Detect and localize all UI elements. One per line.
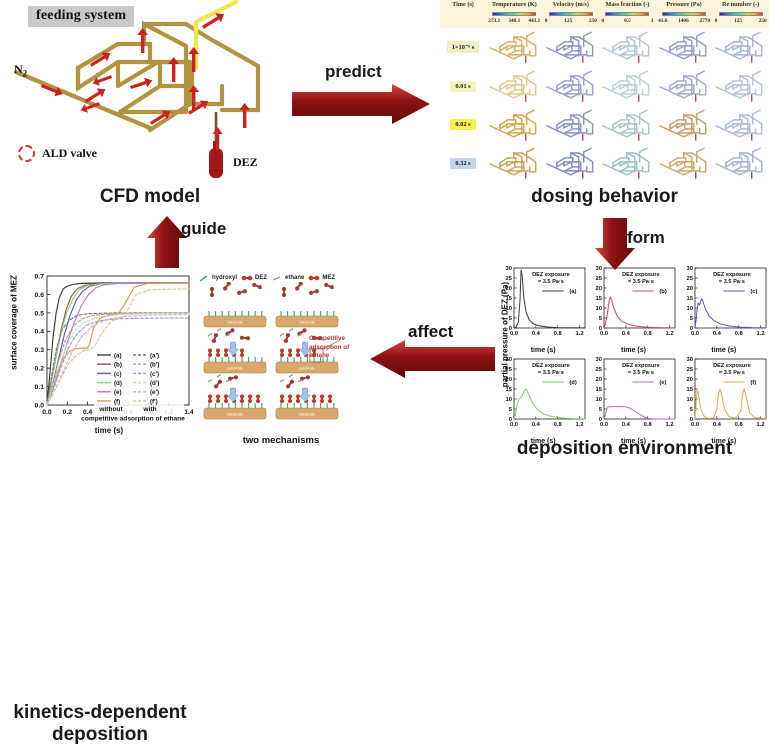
colorbar-tick: 2770: [699, 18, 710, 24]
mechanism-legend-item: MEZ: [308, 274, 335, 282]
dosing-time-cell: 0.02 s: [440, 119, 486, 130]
cfd-model-caption: CFD model: [0, 186, 300, 208]
dosing-column-title: Pressure (Pa): [666, 1, 701, 9]
svg-text:25: 25: [506, 367, 513, 373]
svg-text:(e'): (e'): [150, 389, 159, 396]
svg-text:20: 20: [506, 286, 512, 292]
dosing-behavior-panel: Time (s)Temperature (K)273.1348.1443.1Ve…: [440, 0, 769, 215]
dosing-contour-cell: [712, 28, 769, 67]
svg-text:5: 5: [689, 316, 693, 322]
svg-text:0.7: 0.7: [35, 273, 45, 280]
svg-text:= 3.5 Pa·s: = 3.5 Pa·s: [719, 279, 745, 285]
svg-text:20: 20: [686, 377, 692, 383]
colorbar-tick: 125: [734, 18, 742, 24]
svg-text:25: 25: [596, 367, 603, 373]
svg-text:substrate: substrate: [227, 320, 244, 325]
svg-text:substrate: substrate: [299, 366, 316, 371]
svg-text:(c): (c): [114, 371, 122, 378]
dumbbell-icon: [308, 274, 320, 282]
svg-text:(f): (f): [114, 398, 120, 405]
svg-text:0.3: 0.3: [35, 347, 45, 354]
colorbar-ticks: 41.614062770: [658, 18, 710, 24]
dosing-contour-cell: [712, 144, 769, 183]
svg-text:1.4: 1.4: [184, 409, 193, 416]
svg-text:(e): (e): [660, 380, 667, 386]
form-label: form: [627, 228, 665, 248]
dosing-column-title: Velocity (m/s): [553, 1, 589, 9]
colorbar: [492, 12, 536, 16]
dosing-column-3: Mass fraction (-)00.51: [599, 0, 656, 28]
svg-text:10: 10: [596, 397, 602, 403]
svg-text:0.8: 0.8: [644, 331, 653, 337]
svg-text:(a): (a): [569, 289, 576, 295]
dosing-column-2: Velocity (m/s)0125250: [543, 0, 600, 28]
svg-text:= 3.5 Pa·s: = 3.5 Pa·s: [628, 370, 654, 376]
svg-text:15: 15: [596, 387, 603, 393]
svg-text:25: 25: [686, 276, 693, 282]
colorbar-ticks: 00.51: [601, 18, 653, 24]
dosing-time-chip: 0.01 s: [450, 81, 475, 92]
cfd-pipe-network-diagram: [0, 0, 300, 200]
mechanism-legend-item: hydroxyl: [198, 274, 237, 282]
colorbar-tick: 348.1: [508, 18, 520, 24]
svg-text:10: 10: [596, 306, 602, 312]
deposition-subplot: 0.00.40.81.2051015202530DEZ exposure= 3.…: [679, 264, 769, 355]
svg-text:0.2: 0.2: [63, 409, 73, 416]
colorbar-ticks: 0125250: [715, 18, 767, 24]
dosing-contour-cell: [599, 67, 656, 106]
colorbar-tick: 250: [759, 18, 767, 24]
dosing-column-title: Temperature (K): [492, 1, 537, 9]
colorbar-tick: 41.6: [658, 18, 667, 24]
svg-text:20: 20: [686, 286, 692, 292]
svg-text:(b): (b): [660, 289, 667, 295]
deposition-x-axis-label: time (s): [498, 347, 588, 354]
svg-text:30: 30: [596, 357, 602, 363]
svg-text:substrate: substrate: [227, 366, 244, 371]
feeding-system-label: feeding system: [28, 6, 134, 27]
ald-valve-label: ALD valve: [42, 146, 97, 161]
svg-text:(f): (f): [750, 380, 756, 386]
mechanism-legend-label: DEZ: [255, 275, 267, 281]
dosing-time-chip: 1×10⁻⁶ s: [447, 41, 480, 53]
svg-text:30: 30: [686, 357, 692, 363]
svg-text:(b): (b): [114, 362, 122, 369]
dosing-contour-cell: [543, 28, 600, 67]
dosing-contour-cell: [599, 28, 656, 67]
svg-text:substrate: substrate: [299, 412, 316, 417]
dosing-time-chip: 0.02 s: [450, 119, 475, 130]
svg-text:0: 0: [509, 326, 512, 332]
dosing-contour-cell: [599, 144, 656, 183]
deposition-environment-panel: partial pressure of DEZ (Pa) 0.00.40.81.…: [480, 262, 769, 467]
deposition-subplot-grid: 0.00.40.81.2051015202530DEZ exposure= 3.…: [498, 264, 769, 436]
svg-text:15: 15: [686, 387, 693, 393]
dosing-contour-cell: [712, 106, 769, 145]
svg-text:(d): (d): [569, 380, 576, 386]
kinetics-chart: 0.00.20.40.60.81.01.21.40.00.10.20.30.40…: [25, 271, 193, 423]
dosing-contour-cell: [486, 144, 543, 183]
dosing-contour-cell: [543, 67, 600, 106]
dosing-column-title: Time (s): [452, 1, 474, 9]
svg-text:(e): (e): [114, 389, 122, 396]
svg-text:DEZ exposure: DEZ exposure: [713, 272, 751, 278]
svg-text:15: 15: [686, 296, 693, 302]
svg-text:= 3.5 Pa·s: = 3.5 Pa·s: [719, 370, 745, 376]
colorbar-tick: 0: [601, 18, 604, 24]
colorbar-tick: 0.5: [624, 18, 631, 24]
svg-text:DEZ exposure: DEZ exposure: [622, 272, 660, 278]
dosing-contour-cell: [656, 28, 713, 67]
svg-text:0.0: 0.0: [35, 402, 45, 409]
svg-text:0: 0: [599, 417, 602, 423]
svg-text:(a): (a): [114, 352, 122, 359]
dosing-contour-cell: [486, 67, 543, 106]
svg-text:0.4: 0.4: [622, 331, 631, 337]
dosing-contour-grid: 1×10⁻⁶ s0.01 s0.02 s0.32 s: [440, 28, 769, 183]
svg-text:0.6: 0.6: [35, 292, 45, 299]
svg-text:15: 15: [596, 296, 603, 302]
svg-text:(c'): (c'): [150, 371, 159, 378]
svg-text:1.2: 1.2: [756, 422, 764, 428]
deposition-x-axis-label: time (s): [679, 347, 769, 354]
kinetics-caption: kinetics-dependent deposition: [0, 702, 200, 746]
svg-text:25: 25: [596, 276, 603, 282]
svg-text:25: 25: [506, 276, 513, 282]
svg-text:5: 5: [599, 316, 603, 322]
svg-text:20: 20: [596, 377, 602, 383]
svg-text:competitive adsorption of etha: competitive adsorption of ethane: [81, 415, 185, 422]
dosing-contour-cell: [543, 106, 600, 145]
svg-text:0.4: 0.4: [35, 329, 45, 336]
svg-text:10: 10: [506, 306, 512, 312]
kinetics-plot-panel: surface coverage of MEZ 0.00.20.40.60.81…: [0, 262, 200, 467]
svg-text:(a'): (a'): [150, 352, 159, 359]
dosing-contour-cell: [599, 106, 656, 145]
svg-text:0: 0: [689, 326, 692, 332]
deposition-caption: deposition environment: [480, 438, 769, 460]
colorbar: [549, 12, 593, 16]
svg-text:0: 0: [599, 326, 602, 332]
dosing-contour-cell: [712, 67, 769, 106]
colorbar-tick: 1406: [678, 18, 689, 24]
colorbar: [662, 12, 706, 16]
svg-text:0.8: 0.8: [554, 331, 563, 337]
dosing-contour-cell: [656, 144, 713, 183]
dez-label: DEZ: [233, 155, 258, 170]
dosing-row: 0.32 s: [440, 144, 769, 183]
deposition-x-axis-label: time (s): [588, 347, 678, 354]
svg-text:0.8: 0.8: [554, 422, 563, 428]
dosing-time-cell: 0.32 s: [440, 158, 486, 169]
dosing-contour-cell: [656, 67, 713, 106]
svg-text:without: without: [98, 406, 123, 413]
svg-text:1.2: 1.2: [666, 422, 674, 428]
mechanism-legend-item: DEZ: [241, 274, 267, 282]
dosing-column-title: Re number (-): [722, 1, 759, 9]
svg-text:1.2: 1.2: [576, 331, 584, 337]
svg-text:DEZ exposure: DEZ exposure: [532, 272, 570, 278]
deposition-subplot: 0.00.40.81.2051015202530DEZ exposure= 3.…: [679, 355, 769, 446]
colorbar-tick: 273.1: [488, 18, 500, 24]
svg-text:20: 20: [506, 377, 512, 383]
dosing-column-title: Mass fraction (-): [605, 1, 649, 9]
dosing-contour-cell: [656, 106, 713, 145]
svg-text:0.4: 0.4: [532, 422, 541, 428]
dosing-contour-cell: [486, 28, 543, 67]
mechanism-legend-label: MEZ: [322, 275, 335, 281]
svg-text:0.5: 0.5: [35, 310, 45, 317]
dosing-contour-cell: [543, 144, 600, 183]
svg-text:(d): (d): [114, 380, 122, 387]
svg-text:= 3.5 Pa·s: = 3.5 Pa·s: [628, 279, 654, 285]
svg-text:30: 30: [506, 357, 512, 363]
colorbar: [605, 12, 649, 16]
colorbar: [719, 12, 763, 16]
svg-text:0: 0: [509, 417, 512, 423]
colorbar-ticks: 273.1348.1443.1: [488, 18, 540, 24]
dosing-column-0: Time (s): [440, 0, 486, 28]
dosing-column-5: Re number (-)0125250: [712, 0, 769, 28]
affect-label: affect: [408, 322, 453, 342]
predict-label: predict: [325, 62, 382, 82]
affect-arrow: [370, 340, 495, 378]
dosing-row: 0.01 s: [440, 67, 769, 106]
svg-text:= 3.5 Pa·s: = 3.5 Pa·s: [538, 370, 564, 376]
svg-text:(b'): (b'): [150, 362, 159, 369]
svg-text:0.4: 0.4: [712, 422, 721, 428]
dosing-row: 0.02 s: [440, 106, 769, 145]
mechanism-legend-label: ethane: [285, 275, 304, 281]
svg-text:(d'): (d'): [150, 380, 159, 387]
dosing-contour-cell: [486, 106, 543, 145]
svg-text:0.8: 0.8: [644, 422, 653, 428]
svg-text:30: 30: [686, 266, 692, 272]
dosing-behavior-caption: dosing behavior: [440, 186, 769, 208]
svg-text:0.2: 0.2: [35, 366, 45, 373]
colorbar-ticks: 0125250: [545, 18, 597, 24]
svg-text:DEZ exposure: DEZ exposure: [713, 363, 751, 369]
kinetics-y-axis-label: surface coverage of MEZ: [10, 253, 19, 393]
colorbar-tick: 0: [715, 18, 718, 24]
tick-icon: [271, 274, 283, 282]
mechanism-schematic-panel: hydroxylDEZethaneMEZ substratesubstrates…: [196, 272, 366, 457]
svg-text:0.8: 0.8: [734, 331, 743, 337]
colorbar-tick: 125: [564, 18, 572, 24]
deposition-subplot: 0.00.40.81.2051015202530DEZ exposure= 3.…: [498, 264, 588, 355]
svg-text:30: 30: [506, 266, 512, 272]
svg-text:with: with: [142, 406, 156, 413]
svg-text:0.4: 0.4: [532, 331, 541, 337]
svg-text:20: 20: [596, 286, 602, 292]
stem-icon: [198, 274, 210, 282]
svg-text:15: 15: [506, 387, 513, 393]
svg-text:1.2: 1.2: [756, 331, 764, 337]
dosing-time-cell: 0.01 s: [440, 81, 486, 92]
cfd-model-panel: feeding system N2 DEZ ALD valve CFD mode…: [0, 0, 300, 215]
deposition-subplot: 0.00.40.81.2051015202530DEZ exposure= 3.…: [588, 264, 678, 355]
svg-text:0.4: 0.4: [622, 422, 631, 428]
colorbar-tick: 0: [545, 18, 548, 24]
mechanism-legend-label: hydroxyl: [212, 275, 237, 281]
svg-text:= 3.5 Pa·s: = 3.5 Pa·s: [538, 279, 564, 285]
dosing-column-headers: Time (s)Temperature (K)273.1348.1443.1Ve…: [440, 0, 769, 28]
svg-text:5: 5: [689, 407, 693, 413]
colorbar-tick: 443.1: [528, 18, 540, 24]
competitive-adsorption-callout: Competitive adsorption of ethane: [309, 335, 367, 361]
dosing-time-chip: 0.32 s: [450, 158, 475, 169]
deposition-subplot: 0.00.40.81.2051015202530DEZ exposure= 3.…: [498, 355, 588, 446]
predict-arrow: [292, 84, 432, 124]
dosing-row: 1×10⁻⁶ s: [440, 28, 769, 67]
dosing-column-1: Temperature (K)273.1348.1443.1: [486, 0, 543, 28]
ald-valve-icon: [18, 145, 35, 162]
colorbar-tick: 250: [589, 18, 597, 24]
dosing-time-cell: 1×10⁻⁶ s: [440, 41, 486, 53]
svg-text:substrate: substrate: [227, 412, 244, 417]
svg-text:substrate: substrate: [299, 320, 316, 325]
svg-text:0.4: 0.4: [712, 331, 721, 337]
svg-text:(c): (c): [750, 289, 757, 295]
svg-text:0.0: 0.0: [42, 409, 52, 416]
svg-text:0.1: 0.1: [35, 384, 45, 391]
dosing-column-4: Pressure (Pa)41.614062770: [656, 0, 713, 28]
svg-text:(f'): (f'): [150, 398, 158, 405]
deposition-subplot: 0.00.40.81.2051015202530DEZ exposure= 3.…: [588, 355, 678, 446]
svg-text:10: 10: [686, 306, 692, 312]
guide-label: guide: [181, 219, 226, 239]
svg-text:10: 10: [506, 397, 512, 403]
kinetics-x-axis-label: time (s): [25, 426, 193, 435]
mechanism-caption: two mechanisms: [196, 435, 366, 446]
svg-text:5: 5: [509, 407, 513, 413]
svg-text:1.2: 1.2: [666, 331, 674, 337]
svg-text:1.2: 1.2: [576, 422, 584, 428]
svg-text:5: 5: [599, 407, 603, 413]
dumbbell-icon: [241, 274, 253, 282]
svg-text:5: 5: [509, 316, 513, 322]
svg-text:10: 10: [686, 397, 692, 403]
mechanism-steps-diagram: substratesubstratesubstratesubstratesubs…: [196, 282, 366, 442]
svg-text:25: 25: [686, 367, 693, 373]
mechanism-legend-item: ethane: [271, 274, 304, 282]
svg-text:0: 0: [689, 417, 692, 423]
n2-inlet-label: N2: [14, 62, 27, 78]
svg-text:DEZ exposure: DEZ exposure: [532, 363, 570, 369]
colorbar-tick: 1: [651, 18, 654, 24]
svg-text:0.8: 0.8: [734, 422, 743, 428]
svg-text:15: 15: [506, 296, 513, 302]
svg-text:DEZ exposure: DEZ exposure: [622, 363, 660, 369]
